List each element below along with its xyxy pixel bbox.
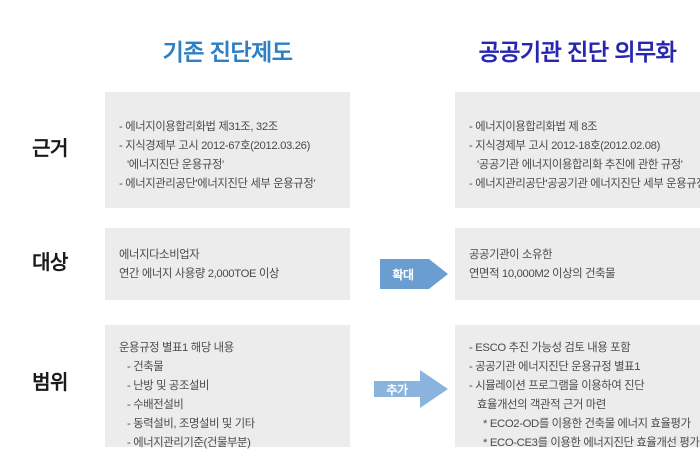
row-scope: 범위 운용규정 별표1 해당 내용 - 건축물 - 난방 및 공조설비 - 수배… — [0, 325, 700, 447]
list-item: 에너지다소비업자 — [119, 246, 350, 265]
list-item: 연간 에너지 사용량 2,000TOE 이상 — [119, 265, 350, 284]
list-item: '공공기관 에너지이용합리화 추진에 관한 규정' — [469, 156, 700, 175]
row-label-target: 대상 — [0, 246, 100, 275]
list-item: - 지식경제부 고시 2012-67호(2012.03.26) — [119, 137, 350, 156]
row-basis: 근거 - 에너지이용합리화법 제31조, 32조 - 지식경제부 고시 2012… — [0, 92, 700, 208]
list-item: - ESCO 추진 가능성 검토 내용 포함 — [469, 339, 700, 358]
list-item: - 에너지관리공단'에너지진단 세부 운용규정' — [119, 175, 350, 194]
list-item: * ECO2-OD를 이용한 건축물 에너지 효율평가 — [469, 415, 700, 434]
list-item: - 시뮬레이션 프로그램을 이용하여 진단 — [469, 377, 700, 396]
column-headers: 기존 진단제도 공공기관 진단 의무화 — [0, 0, 700, 86]
list-item: '에너지진단 운용규정' — [119, 156, 350, 175]
list-item: - 수배전설비 — [119, 396, 350, 415]
target-existing-box: 에너지다소비업자 연간 에너지 사용량 2,000TOE 이상 — [105, 228, 350, 300]
column-title-existing: 기존 진단제도 — [105, 33, 350, 67]
list-item: 효율개선의 객관적 근거 마련 — [469, 396, 700, 415]
target-mandatory-box: 공공기관이 소유한 연면적 10,000M2 이상의 건축물 — [455, 228, 700, 300]
basis-mandatory-box: - 에너지이용합리화법 제 8조 - 지식경제부 고시 2012-18호(201… — [455, 92, 700, 208]
scope-existing-box: 운용규정 별표1 해당 내용 - 건축물 - 난방 및 공조설비 - 수배전설비… — [105, 325, 350, 447]
row-target: 대상 에너지다소비업자 연간 에너지 사용량 2,000TOE 이상 공공기관이… — [0, 228, 700, 300]
list-item: 공공기관이 소유한 — [469, 246, 700, 265]
arrow-expand: 확대 — [380, 259, 448, 289]
list-item: - 동력설비, 조명설비 및 기타 — [119, 415, 350, 434]
column-title-mandatory: 공공기관 진단 의무화 — [455, 33, 700, 67]
list-item: - 지식경제부 고시 2012-18호(2012.02.08) — [469, 137, 700, 156]
list-item: - 난방 및 공조설비 — [119, 377, 350, 396]
arrow-expand-label: 확대 — [380, 259, 426, 289]
list-item: 운용규정 별표1 해당 내용 — [119, 339, 350, 358]
list-item: * ECO-CE3를 이용한 에너지진단 효율개선 평가 — [469, 434, 700, 453]
list-item: 연면적 10,000M2 이상의 건축물 — [469, 265, 700, 284]
list-item: - 에너지관리공단'공공기관 에너지진단 세부 운용규정' — [469, 175, 700, 194]
scope-mandatory-box: - ESCO 추진 가능성 검토 내용 포함 - 공공기관 에너지진단 운용규정… — [455, 325, 700, 447]
list-item: - 에너지이용합리화법 제 8조 — [469, 118, 700, 137]
list-item: - 건축물 — [119, 358, 350, 377]
row-label-basis: 근거 — [0, 132, 100, 161]
row-label-scope: 범위 — [0, 366, 100, 395]
list-item: - 에너지이용합리화법 제31조, 32조 — [119, 118, 350, 137]
arrow-add: 추가 — [374, 370, 448, 408]
list-item: - 공공기관 에너지진단 운용규정 별표1 — [469, 358, 700, 377]
basis-existing-box: - 에너지이용합리화법 제31조, 32조 - 지식경제부 고시 2012-67… — [105, 92, 350, 208]
arrow-add-label: 추가 — [374, 370, 420, 408]
list-item: - 에너지관리기준(건물부분) — [119, 434, 350, 453]
comparison-diagram: 기존 진단제도 공공기관 진단 의무화 근거 - 에너지이용합리화법 제31조,… — [0, 0, 700, 462]
